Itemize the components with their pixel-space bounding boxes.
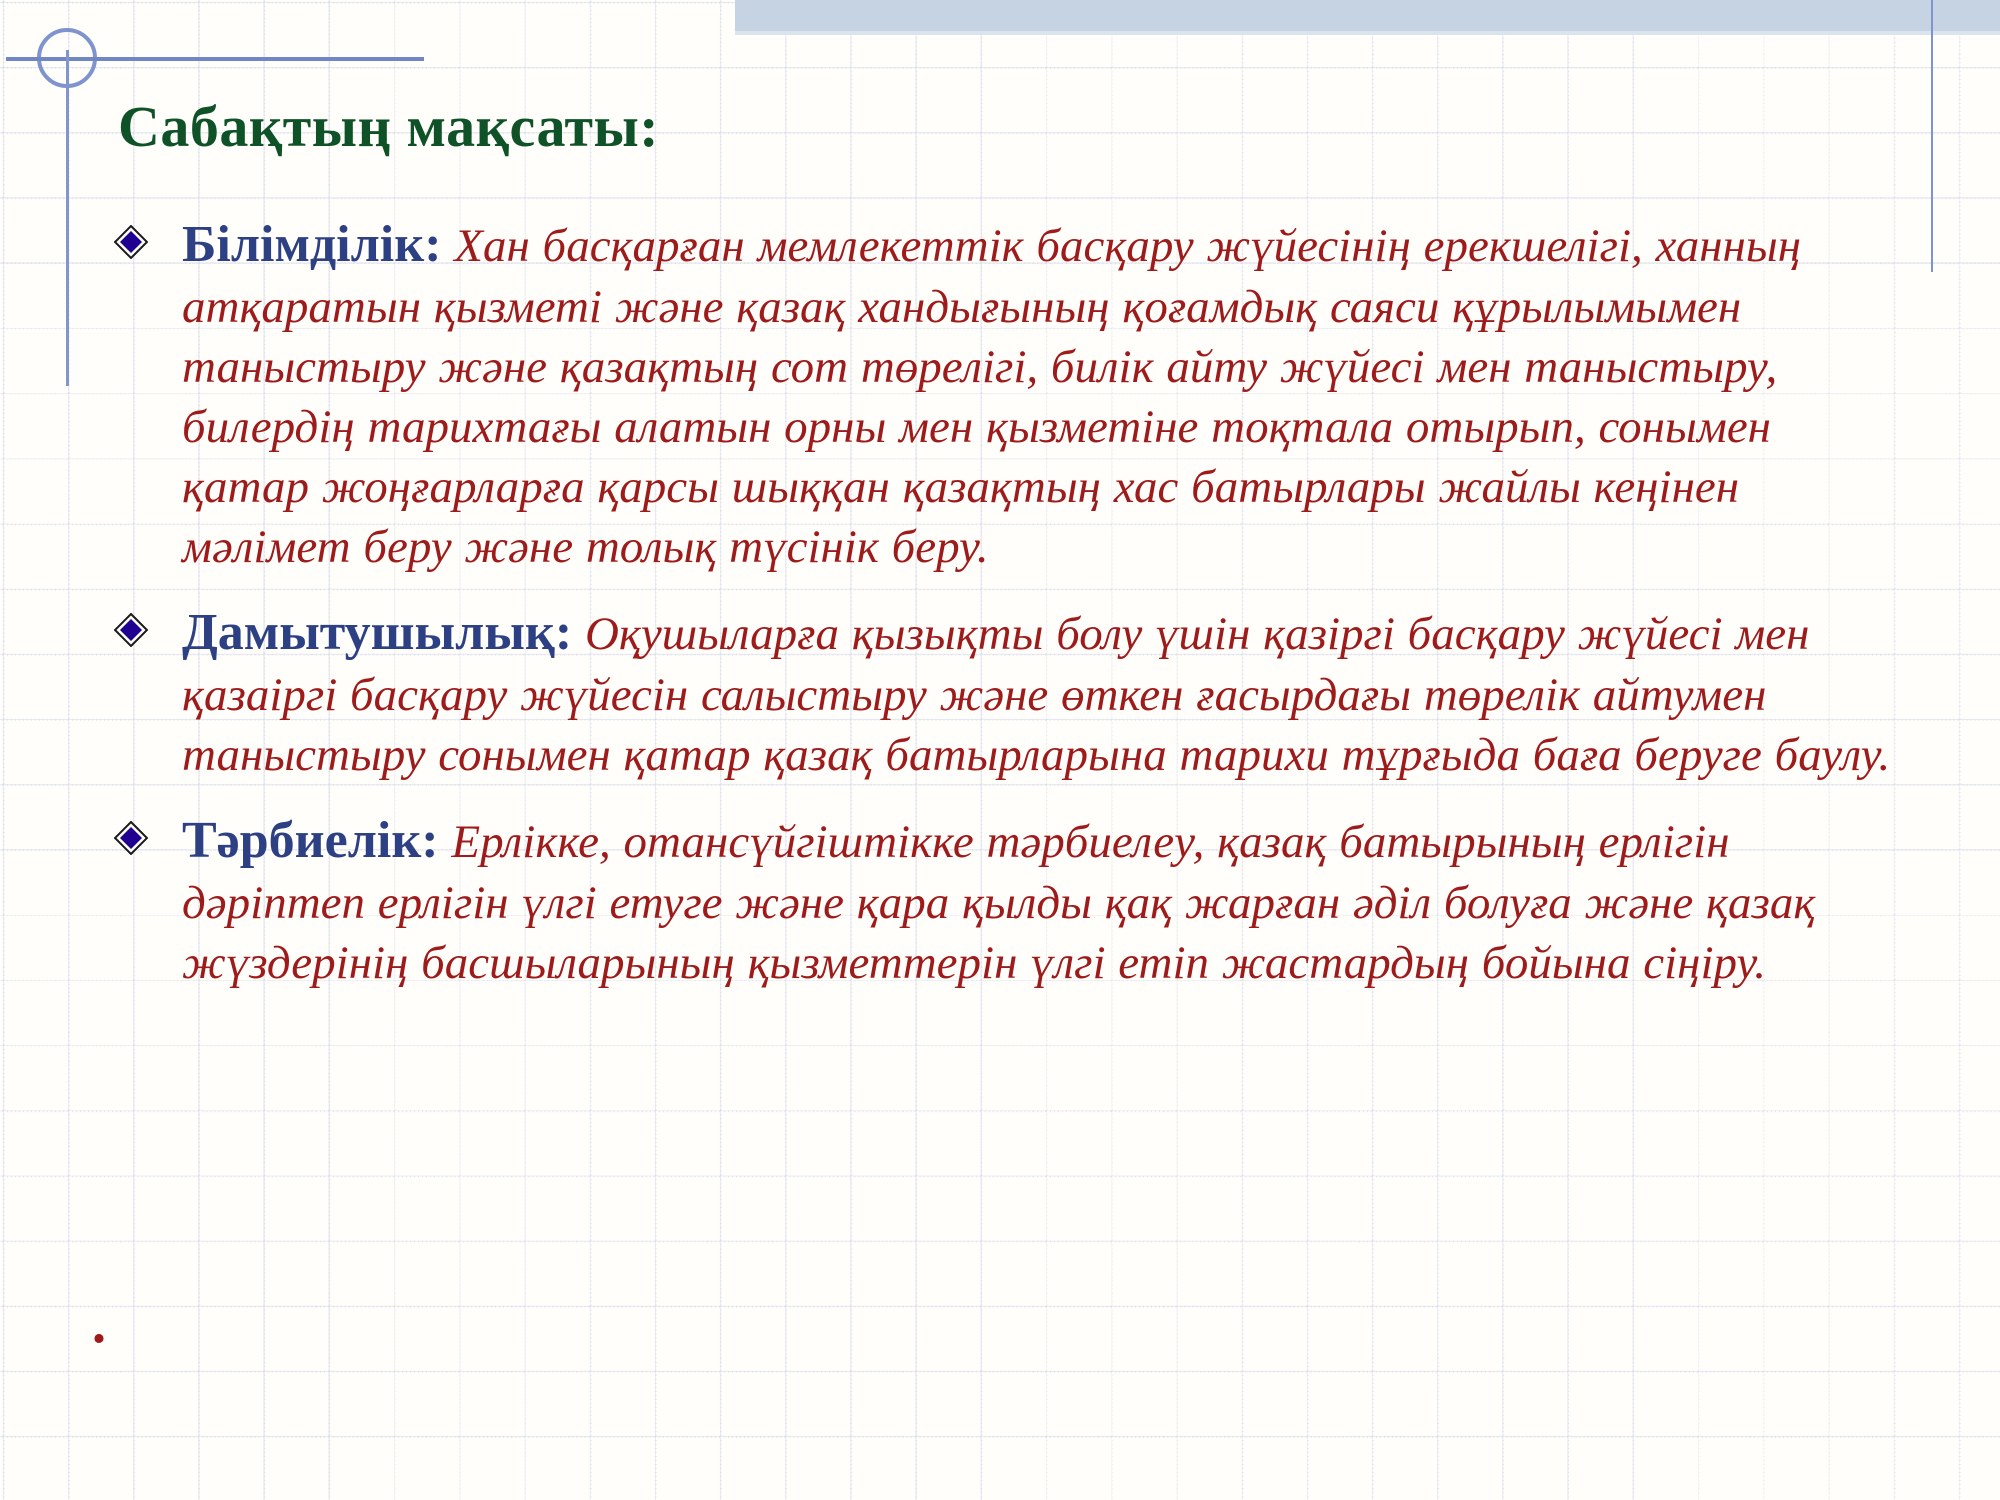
slide-content: Сабақтың мақсаты: Білімділік: Хан басқар… [0, 0, 2000, 1500]
diamond-bullet-icon [114, 613, 148, 647]
list-item-label: Білімділік: [182, 216, 442, 273]
page-title: Сабақтың мақсаты: [118, 98, 659, 156]
list-item: Дамытушылық: Оқушыларға қызықты болу үші… [108, 600, 1898, 786]
diamond-bullet-icon [114, 821, 148, 855]
list-item-text: Тәрбиелік: Ерлікке, отансүйгіштікке тәрб… [182, 808, 1898, 994]
list-item: Тәрбиелік: Ерлікке, отансүйгіштікке тәрб… [108, 808, 1898, 994]
objectives-list: Білімділік: Хан басқарған мемлекеттік ба… [108, 212, 1898, 1016]
list-item-text: Білімділік: Хан басқарған мемлекеттік ба… [182, 212, 1898, 578]
list-item-label: Дамытушылық: [182, 604, 572, 661]
list-item: Білімділік: Хан басқарған мемлекеттік ба… [108, 212, 1898, 578]
list-item-text: Дамытушылық: Оқушыларға қызықты болу үші… [182, 600, 1898, 786]
list-item-label: Тәрбиелік: [182, 812, 439, 869]
slide-canvas: Сабақтың мақсаты: Білімділік: Хан басқар… [0, 0, 2000, 1500]
trailing-period: . [92, 1296, 106, 1352]
diamond-bullet-icon [114, 225, 148, 259]
